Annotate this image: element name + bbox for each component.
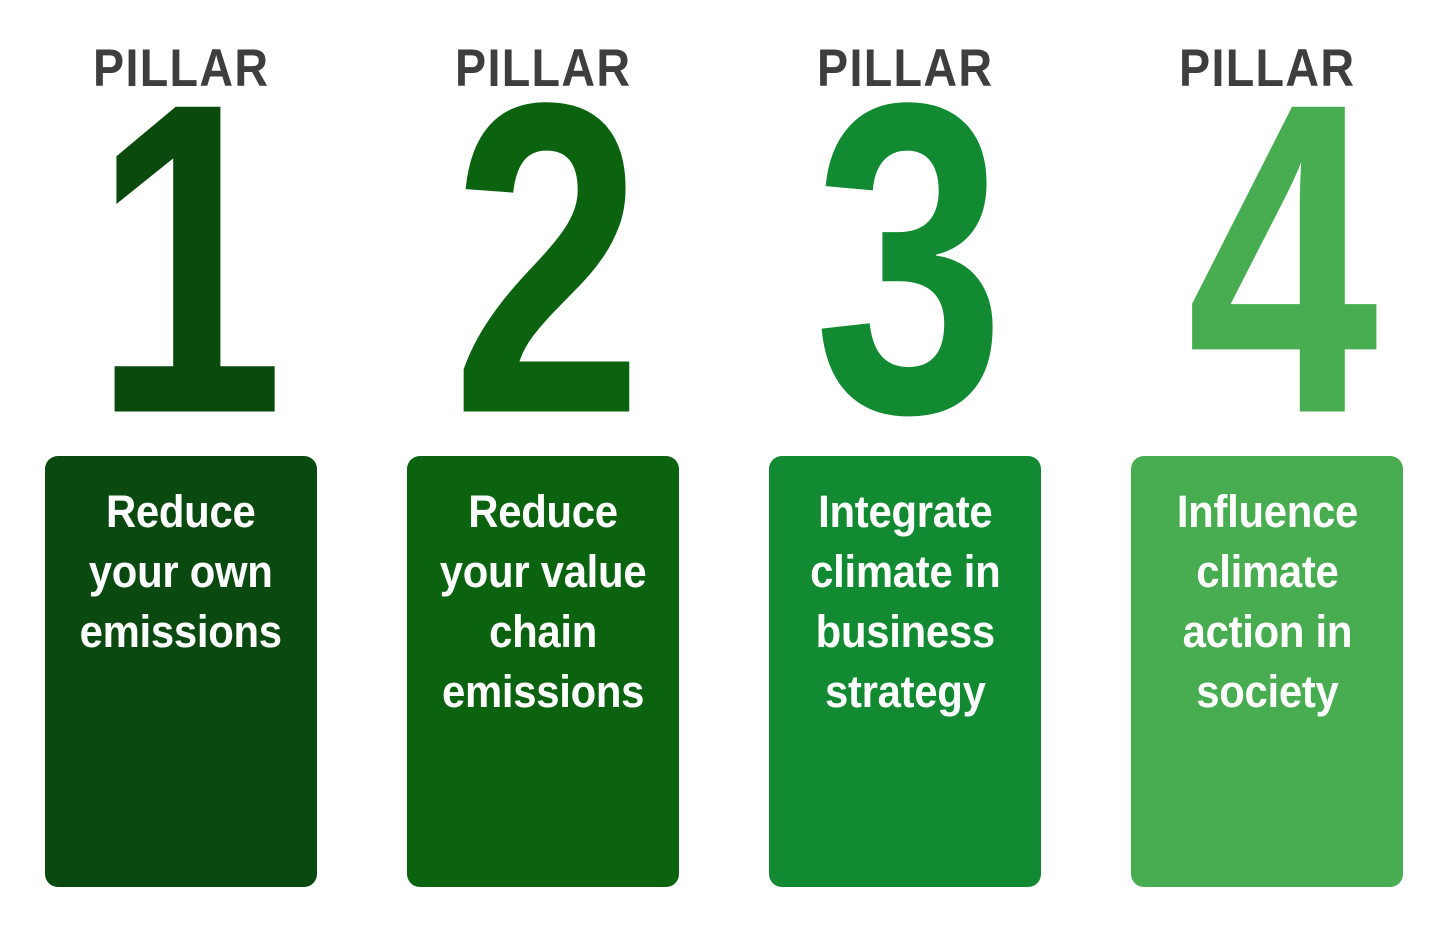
pillar-numeral-wrap-1: 1 xyxy=(0,98,362,420)
pillar-numeral-3: 3 xyxy=(814,38,999,481)
pillars-infographic: PILLAR 1 Reduce your own emissions PILLA… xyxy=(0,0,1448,942)
pillar-numeral-2: 2 xyxy=(452,38,637,481)
pillar-numeral-4: 4 xyxy=(1187,38,1372,481)
pillar-column-3: PILLAR 3 Integrate climate in business s… xyxy=(724,0,1086,942)
pillar-card-1: Reduce your own emissions xyxy=(45,456,317,887)
pillar-column-2: PILLAR 2 Reduce your value chain emissio… xyxy=(362,0,724,942)
pillar-card-4: Influence climate action in society xyxy=(1131,456,1403,887)
pillar-card-text-4: Influence climate action in society xyxy=(1176,482,1357,722)
pillar-card-3: Integrate climate in business strategy xyxy=(769,456,1041,887)
pillar-numeral-wrap-3: 3 xyxy=(724,98,1086,420)
pillar-column-4: PILLAR 4 Influence climate action in soc… xyxy=(1086,0,1448,942)
pillar-numeral-1: 1 xyxy=(93,38,278,481)
pillar-numeral-wrap-4: 4 xyxy=(1086,98,1448,420)
pillar-card-text-2: Reduce your value chain emissions xyxy=(440,482,647,722)
pillar-card-text-1: Reduce your own emissions xyxy=(80,482,282,662)
pillar-column-1: PILLAR 1 Reduce your own emissions xyxy=(0,0,362,942)
pillar-card-2: Reduce your value chain emissions xyxy=(407,456,679,887)
pillar-card-text-3: Integrate climate in business strategy xyxy=(810,482,1000,722)
pillar-numeral-wrap-2: 2 xyxy=(362,98,724,420)
